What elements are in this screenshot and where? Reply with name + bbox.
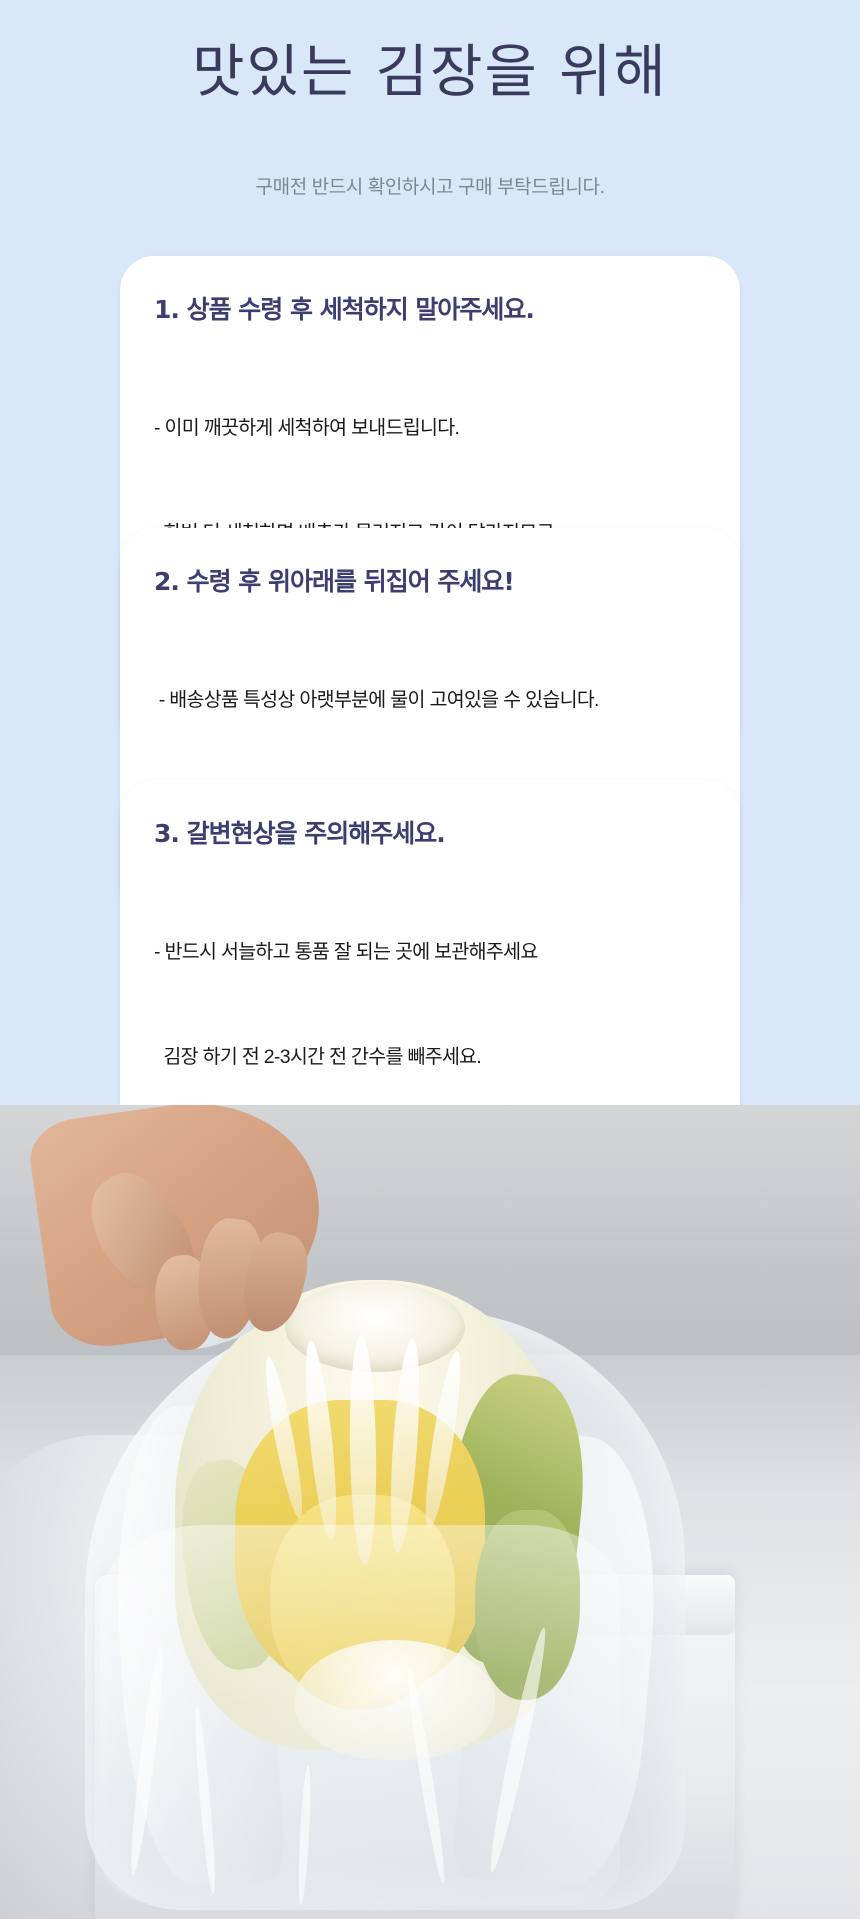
notice-line: 김장 하기 전 2-3시간 전 간수를 빼주세요. (154, 1040, 706, 1075)
notice-inner: 맛있는 김장을 위해 구매전 반드시 확인하시고 구매 부탁드립니다. 1. 상… (70, 0, 790, 1105)
notice-line: - 배송상품 특성상 아랫부분에 물이 고여있을 수 있습니다. (154, 683, 706, 718)
page-subtitle: 구매전 반드시 확인하시고 구매 부탁드립니다. (70, 172, 790, 199)
photo-bag-front-gloss (100, 1525, 620, 1905)
notice-heading-1: 1. 상품 수령 후 세척하지 말아주세요. (154, 290, 706, 326)
product-photo (0, 1105, 860, 1919)
page-title: 맛있는 김장을 위해 (70, 42, 790, 104)
notice-heading-2: 2. 수령 후 위아래를 뒤집어 주세요! (154, 562, 706, 598)
product-detail-page: 맛있는 김장을 위해 구매전 반드시 확인하시고 구매 부탁드립니다. 1. 상… (0, 0, 860, 1919)
notice-line: - 반드시 서늘하고 통품 잘 되는 곳에 보관해주세요 (154, 935, 706, 970)
notice-line: - 이미 깨끗하게 세척하여 보내드립니다. (154, 411, 706, 446)
photo-scene (0, 1105, 860, 1919)
notice-heading-3: 3. 갈변현상을 주의해주세요. (154, 814, 706, 850)
notice-panel: 맛있는 김장을 위해 구매전 반드시 확인하시고 구매 부탁드립니다. 1. 상… (0, 0, 860, 1105)
photo-hand (25, 1105, 334, 1353)
